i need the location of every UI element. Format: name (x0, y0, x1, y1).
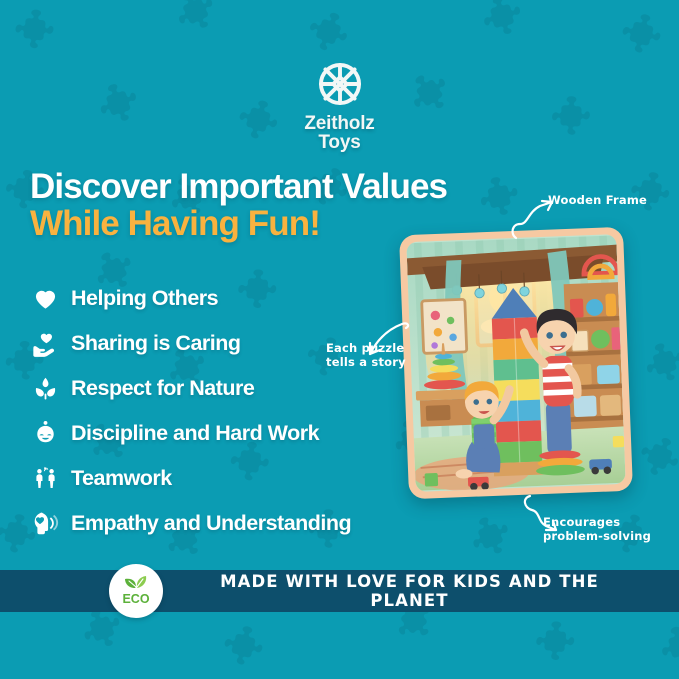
meditating-face-icon (30, 419, 60, 449)
product-photo-card (399, 227, 633, 499)
two-leaves-icon (125, 576, 146, 588)
annotation-each-puzzle: Each puzzle tells a story (326, 341, 406, 370)
list-item-teamwork: Teamwork (30, 456, 351, 501)
list-item-label: Discipline and Hard Work (71, 421, 319, 446)
heart-icon (30, 284, 60, 314)
leaf-seedling-icon (30, 374, 60, 404)
list-item-discipline-and-hard-work: Discipline and Hard Work (30, 411, 351, 456)
annotation-wooden-frame: Wooden Frame (548, 193, 647, 207)
celtic-knot-logo-icon (312, 56, 368, 112)
list-item-label: Teamwork (71, 466, 172, 491)
page-title: Discover Important Values While Having F… (30, 168, 447, 243)
brand-name-line2: Toys (0, 133, 679, 152)
list-item-helping-others: Helping Others (30, 276, 351, 321)
list-item-empathy-and-understanding: Empathy and Understanding (30, 501, 351, 546)
annotation-problem-solving: Encourages problem-solving (543, 515, 651, 544)
list-item-label: Sharing is Caring (71, 331, 241, 356)
headline-line-2: While Having Fun! (30, 205, 447, 242)
brand-logo: Zeitholz Toys (0, 56, 679, 153)
headline-line-1: Discover Important Values (30, 168, 447, 205)
list-item-label: Empathy and Understanding (71, 511, 351, 536)
head-with-heart-icon (30, 509, 60, 539)
list-item-respect-for-nature: Respect for Nature (30, 366, 351, 411)
eco-banner: MADE WITH LOVE FOR KIDS AND THE PLANET (0, 570, 679, 612)
product-photo (406, 234, 625, 492)
values-list: Helping Others Sharing is Caring Respect… (30, 276, 351, 546)
two-people-icon (30, 464, 60, 494)
brand-wordmark: Zeitholz Toys (0, 114, 679, 153)
list-item-sharing-is-caring: Sharing is Caring (30, 321, 351, 366)
list-item-label: Helping Others (71, 286, 218, 311)
eco-badge: ECO (109, 564, 163, 618)
eco-badge-text: ECO (122, 592, 149, 606)
list-item-label: Respect for Nature (71, 376, 254, 401)
brand-name-line1: Zeitholz (304, 113, 374, 134)
hand-holding-heart-icon (30, 329, 60, 359)
eco-banner-text: MADE WITH LOVE FOR KIDS AND THE PLANET (180, 572, 639, 610)
